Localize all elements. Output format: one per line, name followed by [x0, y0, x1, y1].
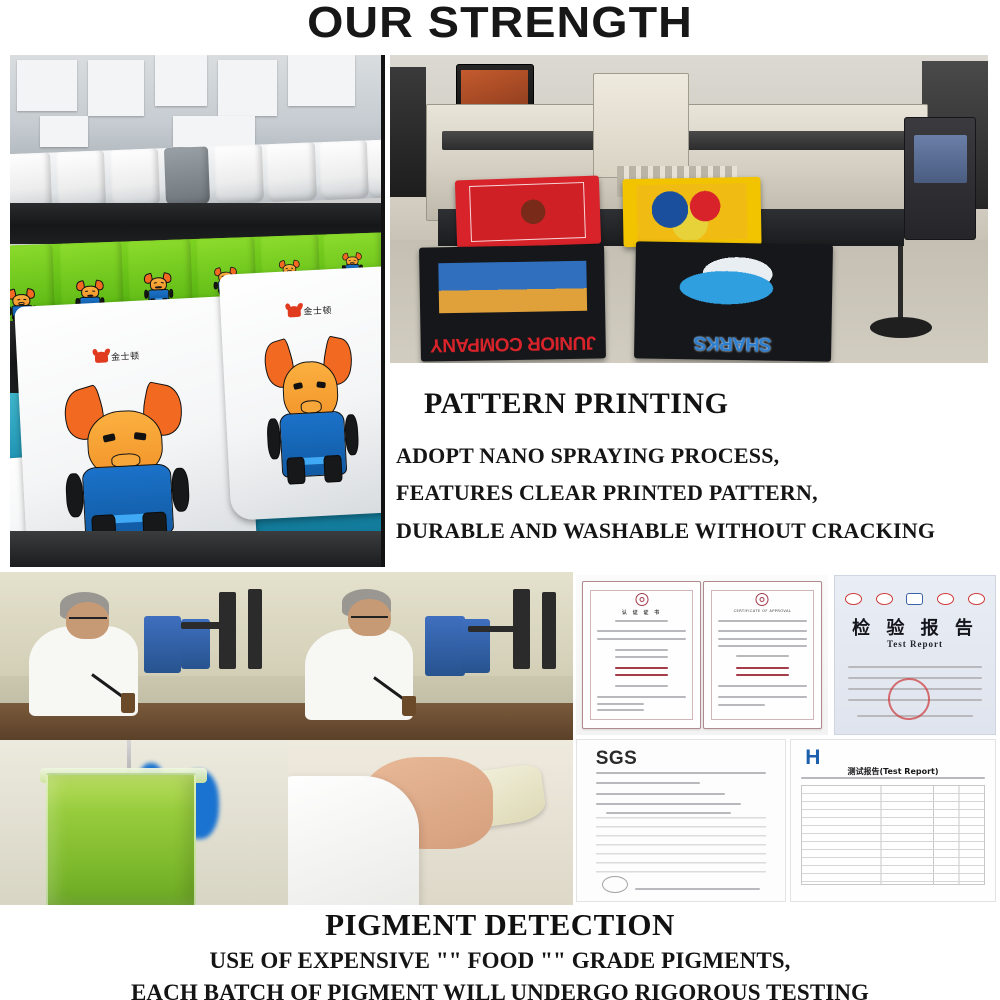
pattern-printing-heading: PATTERN PRINTING: [424, 385, 996, 423]
brand-logo-text: 金士顿: [111, 348, 140, 362]
brand-logo-text: 金士顿: [303, 304, 332, 318]
doc-iso-certificate: 认 证 证 书 CERTIFICATE OF APPROVAL: [576, 575, 828, 735]
iso-logo-icon: [906, 593, 923, 605]
pattern-printing-line-1: ADOPT NANO SPRAYING PROCESS,: [396, 437, 996, 475]
tee-yellow: [623, 177, 762, 247]
shirt-white: [214, 145, 264, 205]
tee-art-yellow: [636, 183, 747, 240]
pigment-detection-line-2: EACH BATCH OF PIGMENT WILL UNDERGO RIGOR…: [0, 977, 1000, 1000]
photo-screen-printing: 金士顿 金士顿: [10, 55, 385, 567]
tshirt-large-right: 金士顿: [219, 265, 385, 520]
pigment-detection-heading: PIGMENT DETECTION: [0, 905, 1000, 945]
wall-sheet: [40, 116, 88, 147]
photo-sample-inspection: [288, 740, 573, 905]
tee-label-sharks: SHARKS: [634, 332, 832, 354]
h-report-title: 测试报告(Test Report): [847, 766, 938, 777]
sgs-results-table: [596, 817, 767, 878]
sample-bottle: [121, 693, 135, 713]
side-rack: [390, 67, 426, 196]
iso-right-title: CERTIFICATE OF APPROVAL: [734, 609, 792, 613]
cnas-logo-icon: [968, 593, 985, 605]
lab-mixer: [425, 616, 465, 676]
bull-eye: [102, 433, 116, 443]
brand-logo: 金士顿: [287, 304, 332, 319]
wall-sheet: [88, 60, 144, 116]
cqc-logo-icon: [876, 593, 893, 605]
pigment-detection-line-1: USE OF EXPENSIVE "" FOOD "" GRADE PIGMEN…: [0, 945, 1000, 978]
wall-sheet: [218, 60, 277, 116]
beaker-green-liquid: [46, 773, 196, 905]
iso-standard-line: [736, 667, 790, 670]
tee-art-red: [469, 182, 586, 242]
h-results-table: [801, 785, 985, 885]
tee-junior-company: JUNIOR COMPANY: [419, 244, 606, 361]
shirt-white: [56, 151, 106, 211]
lab-clamp: [248, 589, 262, 670]
doc-h-test-report: H 测试报告(Test Report): [790, 739, 996, 902]
photo-lab-technician-left: [0, 572, 288, 740]
control-screen: [914, 135, 967, 183]
wall-sheet: [155, 55, 207, 106]
bull-arm: [171, 467, 191, 513]
tee-art-junior: [438, 261, 587, 314]
iso-left-title: 认 证 证 书: [622, 609, 661, 616]
doc-test-report-cn: 检 验 报 告 Test Report: [834, 575, 996, 735]
test-report-title-en: Test Report: [887, 639, 943, 649]
monitor-stand: [862, 234, 940, 339]
bull-mascot-large: [267, 337, 356, 479]
printer-control-panel[interactable]: [904, 117, 976, 240]
print-head: [593, 73, 689, 178]
certificates-area: 认 证 证 书 CERTIFICATE OF APPROVAL: [573, 572, 1000, 905]
shirt-white: [318, 141, 368, 201]
photo-pigment-beaker: [0, 740, 288, 905]
machine-foot: [10, 531, 381, 567]
bull-eye: [134, 431, 147, 439]
tee-art-sharks: [655, 256, 814, 315]
iso-standard-line: [615, 674, 669, 677]
page-title: OUR STRENGTH: [0, 0, 1000, 48]
tee-sharks: SHARKS: [634, 241, 833, 361]
certificate-seal-icon: [635, 593, 648, 606]
pattern-printing-line-3: DURABLE AND WASHABLE WITHOUT CRACKING: [396, 512, 996, 550]
lab-clamp: [542, 592, 556, 669]
shirt-white: [266, 143, 316, 203]
tee-label-junior: JUNIOR COMPANY: [420, 332, 606, 354]
sgs-stamp-icon: [602, 876, 628, 893]
sgs-logo: SGS: [596, 748, 638, 770]
platen-empty: [164, 147, 210, 207]
technician-glasses: [351, 616, 388, 621]
certification-logos: [845, 589, 986, 610]
brand-logo: 金士顿: [95, 348, 140, 363]
wall-sheet: [17, 60, 76, 111]
infographic-page: OUR STRENGTH: [0, 0, 1000, 1000]
bull-logo-icon: [287, 306, 301, 318]
tee-red: [455, 176, 601, 249]
lab-arm: [468, 626, 519, 633]
technician-coat: [305, 629, 413, 720]
lab-mixer: [144, 616, 181, 673]
wall-sheet: [288, 55, 355, 106]
lab-arm: [181, 622, 233, 629]
shirt-white: [367, 139, 385, 198]
iso-standard-line: [615, 667, 669, 670]
shirt-white: [110, 149, 160, 209]
iso-standard-line: [736, 674, 790, 677]
doc-sgs-report: SGS: [576, 739, 786, 902]
bull-mascot-large: [67, 384, 185, 539]
lab-clamp: [219, 592, 236, 669]
cma-logo-icon: [937, 593, 954, 605]
photo-uv-printer: JUNIOR COMPANY SHARKS: [390, 55, 988, 363]
bull-logo-icon: [95, 351, 109, 363]
section-pigment-detection: PIGMENT DETECTION USE OF EXPENSIVE "" FO…: [0, 905, 1000, 1000]
pattern-printing-line-2: FEATURES CLEAR PRINTED PATTERN,: [396, 474, 996, 512]
test-report-title-cn: 检 验 报 告: [852, 614, 978, 640]
section-pattern-printing: PATTERN PRINTING ADOPT NANO SPRAYING PRO…: [396, 385, 996, 550]
ccc-logo-icon: [845, 593, 862, 605]
technician-glasses: [69, 617, 106, 622]
lab-coat-sleeve: [288, 776, 419, 905]
certificate-seal-icon: [756, 593, 769, 606]
photo-lab-technician-right: [288, 572, 573, 740]
wall-sheet: [173, 116, 255, 147]
iso-certificate-right: CERTIFICATE OF APPROVAL: [703, 581, 821, 728]
h-logo: H: [805, 746, 820, 770]
iso-certificate-left: 认 证 证 书: [582, 581, 700, 728]
sample-bottle: [402, 696, 416, 716]
